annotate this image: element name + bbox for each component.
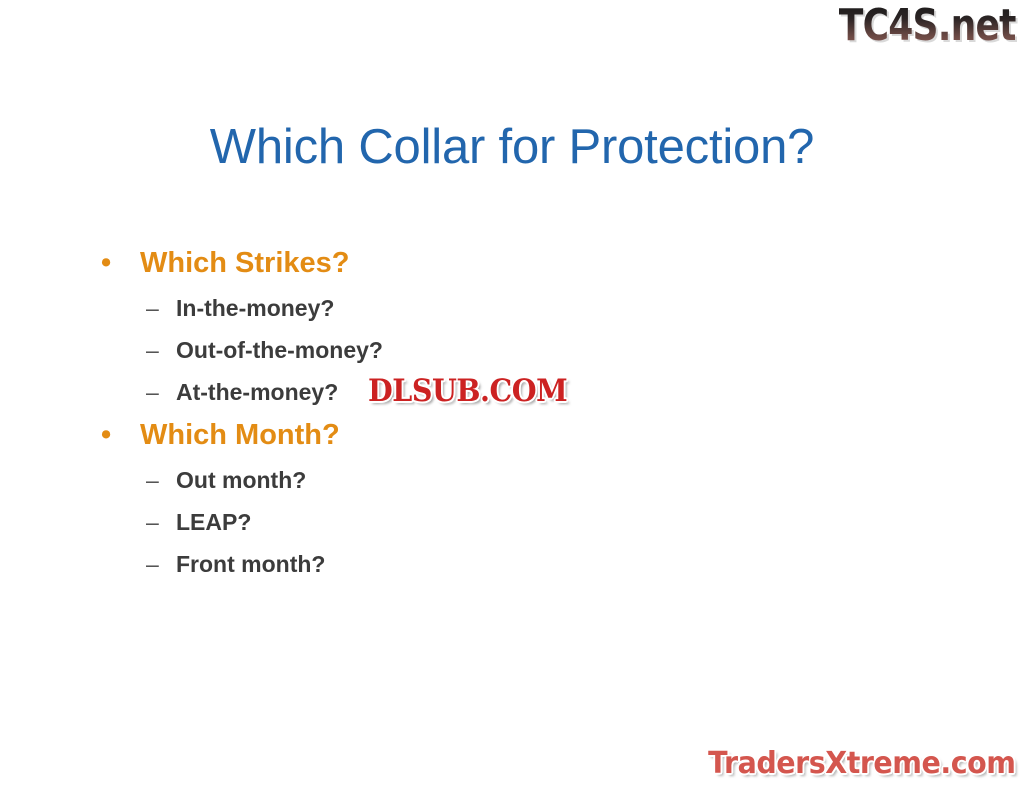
dash-icon: –	[146, 508, 159, 536]
list-item: – Out-of-the-money?	[96, 336, 896, 364]
list-item-label: At-the-money?	[176, 379, 338, 405]
dlsub-watermark: DLSUB.COM	[368, 373, 567, 409]
list-item: – Out month?	[96, 466, 896, 494]
dash-icon: –	[146, 466, 159, 494]
bullet-group-heading-2: • Which Month?	[96, 418, 896, 452]
bullet-dot-icon: •	[101, 418, 111, 452]
dash-icon: –	[146, 294, 159, 322]
list-item-label: In-the-money?	[176, 295, 334, 321]
list-item: – Front month?	[96, 550, 896, 578]
dash-icon: –	[146, 550, 159, 578]
dash-icon: –	[146, 378, 159, 406]
list-item: – In-the-money?	[96, 294, 896, 322]
bullet-heading-label: Which Month?	[140, 419, 340, 451]
presentation-slide: TC4S.net TC4S.net Which Collar for Prote…	[0, 0, 1024, 791]
list-item-label: LEAP?	[176, 509, 251, 535]
bullet-list: • Which Strikes? – In-the-money? – Out-o…	[96, 246, 896, 578]
page-title: Which Collar for Protection?	[0, 118, 1024, 176]
tradersxtreme-logo: TradersXtreme.com	[708, 746, 1015, 782]
bullet-group-heading-1: • Which Strikes?	[96, 246, 896, 280]
list-item: – LEAP?	[96, 508, 896, 536]
dash-icon: –	[146, 336, 159, 364]
tc4s-logo: TC4S.net	[839, 2, 1016, 50]
list-item-label: Out month?	[176, 467, 306, 493]
list-item-label: Out-of-the-money?	[176, 337, 383, 363]
bullet-dot-icon: •	[101, 246, 111, 280]
list-item-label: Front month?	[176, 551, 325, 577]
bullet-heading-label: Which Strikes?	[140, 247, 350, 279]
